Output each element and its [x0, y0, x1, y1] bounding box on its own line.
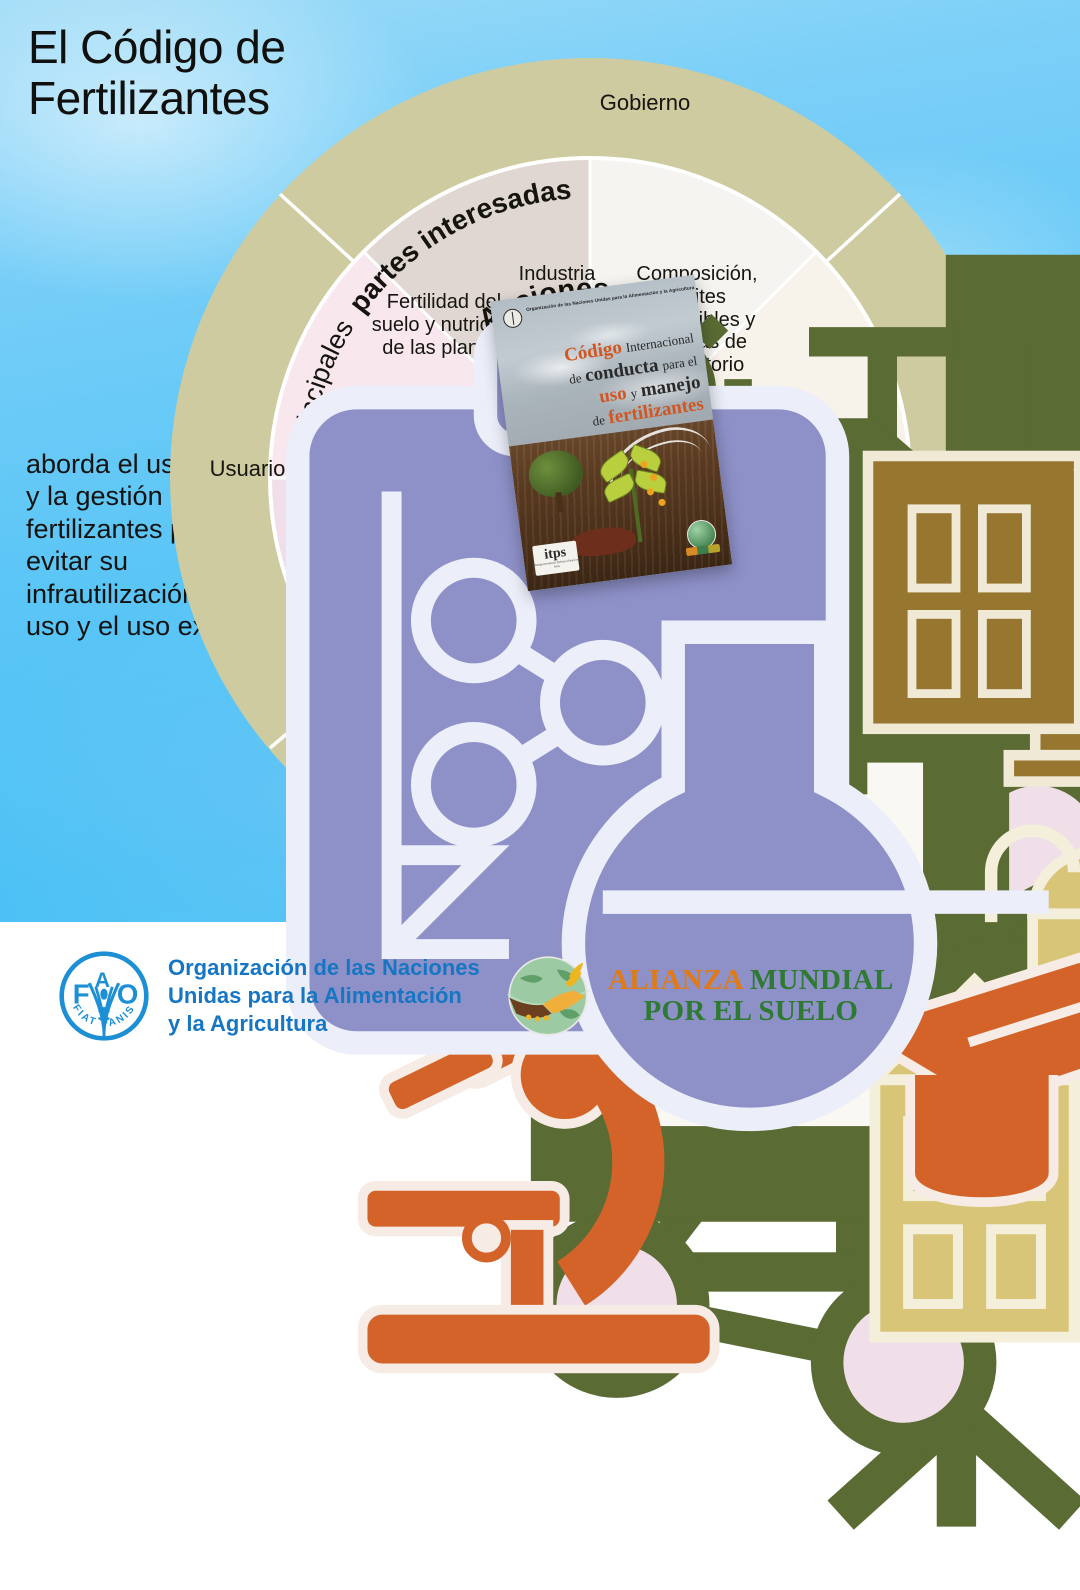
code-book-cover: Organización de las Naciones Unidas para… — [490, 275, 732, 591]
gsp-logo-block: ALIANZA MUNDIAL POR EL SUELO — [504, 952, 894, 1040]
gsp-name: ALIANZA MUNDIAL POR EL SUELO — [608, 965, 894, 1026]
book-gsp-logo — [682, 518, 720, 556]
fao-emblem-icon: F A O FIAT PANIS — [58, 950, 150, 1042]
gsp-line1: ALIANZA MUNDIAL — [608, 965, 894, 996]
gsp-mundial: MUNDIAL — [750, 964, 894, 996]
stakeholder-label-gobierno: Gobierno — [560, 90, 730, 115]
book-fao-seal-icon — [502, 308, 523, 329]
gsp-globe-handshake-icon — [504, 952, 592, 1040]
book-title-de2: de — [592, 413, 606, 430]
book-title-de: de — [568, 370, 582, 387]
book-title-para-el: para el — [661, 353, 698, 373]
book-title-uso: uso — [598, 382, 628, 407]
infographic-canvas: El Código de Fertilizantes aborda el uso… — [0, 0, 1080, 1080]
book-title-y: y — [629, 385, 638, 401]
gsp-line2: POR EL SUELO — [608, 996, 894, 1027]
book-itps-logo: itps Intergovernmental Technical Panel o… — [532, 541, 580, 576]
gsp-alianza: ALIANZA — [608, 964, 742, 996]
book-tree-illustration — [524, 447, 590, 516]
fao-logo-block: F A O FIAT PANIS Organización de las Nac… — [58, 950, 480, 1042]
svg-text:F: F — [73, 978, 90, 1009]
fao-name: Organización de las Naciones Unidas para… — [168, 954, 480, 1038]
itps-full: Intergovernmental Technical Panel on Soi… — [535, 559, 580, 572]
